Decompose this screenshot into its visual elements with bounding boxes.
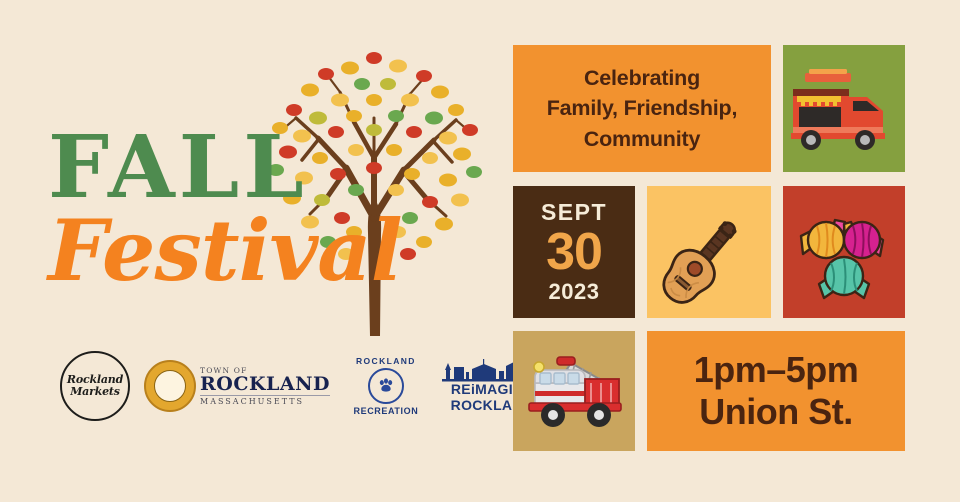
celebrating-line3: Community: [547, 124, 738, 155]
poster-info-grid: Celebrating Family, Friendship, Communit…: [513, 45, 905, 451]
logo-rockland-markets: Rockland Markets: [60, 351, 130, 421]
town-line3: MASSACHUSETTS: [200, 395, 330, 406]
celebrating-line2: Family, Friendship,: [547, 93, 738, 124]
date-year: 2023: [549, 281, 600, 303]
tile-food-truck: [783, 45, 905, 172]
tile-event-date: SEPT 30 2023: [513, 186, 635, 318]
town-line2: ROCKLAND: [200, 375, 330, 395]
recreation-line1: ROCKLAND: [356, 356, 416, 366]
acoustic-guitar-icon: [647, 186, 771, 318]
tile-candy: [783, 186, 905, 318]
paw-print-icon: [368, 368, 404, 404]
title-festival: Festival: [48, 209, 478, 293]
rockland-markets-line2: Markets: [70, 386, 120, 398]
fire-truck-icon: [513, 331, 635, 451]
tile-celebrating: Celebrating Family, Friendship, Communit…: [513, 45, 771, 172]
title-fall: FALL: [48, 128, 478, 207]
recreation-line2: RECREATION: [354, 406, 419, 416]
poster-left-panel: FALL Festival Rockland Markets TOWN OF R…: [0, 0, 500, 502]
town-seal-icon: [144, 360, 196, 412]
logo-rockland-recreation: ROCKLAND RECREATION: [344, 350, 428, 422]
tile-fire-truck: [513, 331, 635, 451]
celebrating-line1: Celebrating: [547, 63, 738, 94]
tile-guitar: [647, 186, 771, 318]
wrapped-candy-icon: [783, 186, 905, 318]
sponsor-logos: Rockland Markets TOWN OF ROCKLAND MASSAC…: [60, 340, 445, 432]
logo-town-of-rockland: TOWN OF ROCKLAND MASSACHUSETTS: [144, 360, 330, 412]
fall-festival-poster: FALL Festival Rockland Markets TOWN OF R…: [0, 0, 960, 502]
date-day: 30: [546, 226, 602, 279]
tile-time-location: 1pm–5pm Union St.: [647, 331, 905, 451]
food-truck-icon: [783, 45, 905, 172]
event-location: Union St.: [699, 391, 852, 433]
date-month: SEPT: [541, 201, 607, 224]
event-time: 1pm–5pm: [694, 349, 859, 391]
poster-title: FALL Festival: [48, 128, 478, 293]
